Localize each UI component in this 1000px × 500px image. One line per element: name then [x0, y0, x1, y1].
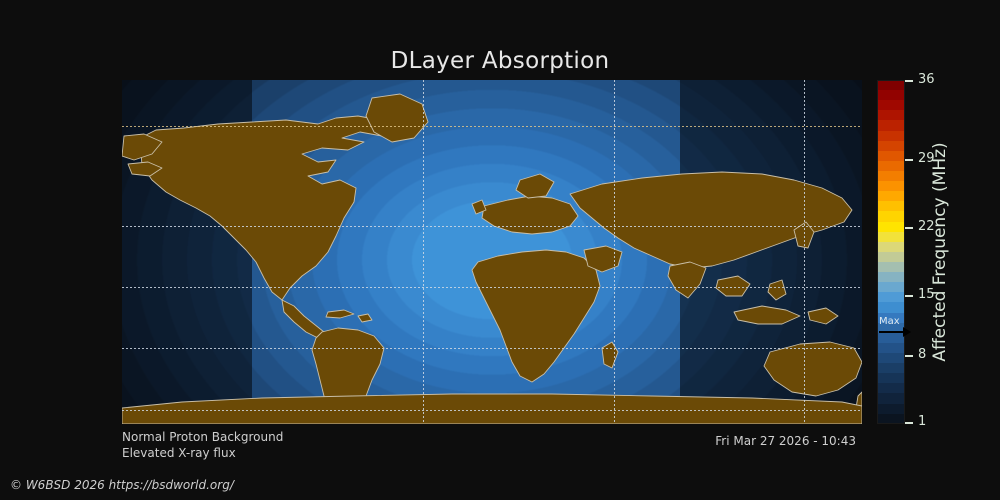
gridline-latitude-60s: [122, 410, 862, 411]
credit-line: © W6BSD 2026 https://bsdworld.org/: [10, 478, 234, 492]
colorbar-frame: [877, 80, 905, 424]
gridline-latitude-60n: [122, 126, 862, 127]
world-map-panel[interactable]: [122, 80, 862, 424]
gridline-latitude-30n: [122, 226, 862, 227]
gridline-latitude-30s: [122, 348, 862, 349]
max-marker-label: Max: [879, 316, 900, 327]
gridline-latitude-equator: [122, 287, 862, 288]
colorbar-tick-mark: [905, 80, 913, 82]
colorbar-tick-mark: [905, 295, 913, 297]
colorbar-tick-mark: [905, 422, 913, 424]
page-root: DLayer Absorption: [0, 0, 1000, 500]
gridline-longitude-120e: [804, 80, 805, 424]
colorbar-tick-mark: [905, 355, 913, 357]
page-title: DLayer Absorption: [0, 48, 1000, 74]
colorbar-tick-mark: [905, 159, 913, 161]
landmass-layer: [122, 80, 862, 424]
max-arrow-icon: [879, 331, 905, 333]
gridline-longitude-120w: [423, 80, 424, 424]
timestamp: Fri Mar 27 2026 - 10:43: [0, 434, 856, 448]
colorbar-axis-label: Affected Frequency (MHz): [926, 80, 954, 424]
colorbar-tick-mark: [905, 227, 913, 229]
gridline-longitude-30w: [614, 80, 615, 424]
colorbar[interactable]: [877, 80, 905, 424]
